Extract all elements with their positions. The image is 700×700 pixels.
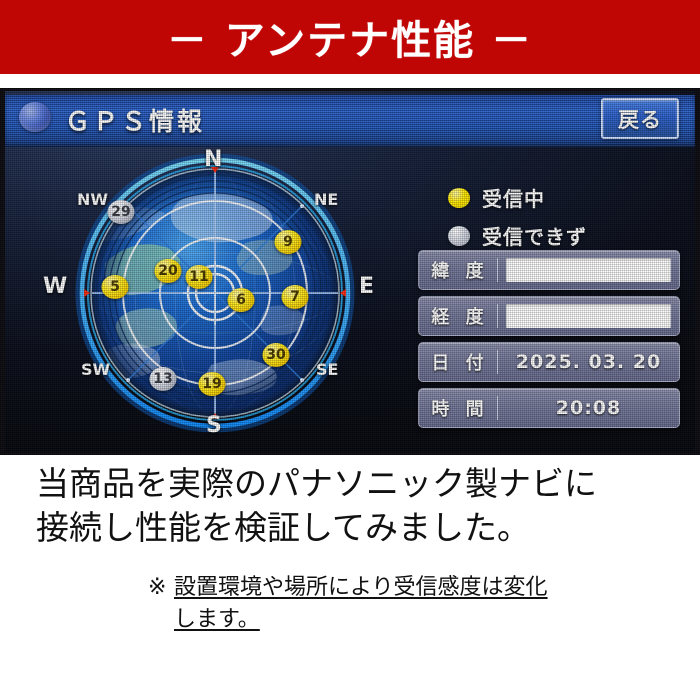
legend-label-not-receiving: 受信できず	[482, 221, 587, 250]
banner-title: － アンテナ性能 －	[167, 8, 533, 66]
compass-label-e: E	[359, 274, 374, 299]
compass-label-ne: NE	[314, 190, 338, 209]
note-line-2: します。	[148, 604, 700, 636]
info-row-date: 日 付 2025. 03. 20	[418, 342, 680, 382]
info-value-longitude	[506, 304, 671, 328]
compass-label-n: N	[204, 147, 222, 172]
note-text-2: します。	[174, 607, 260, 632]
radar-graphic	[35, 143, 395, 448]
info-row-longitude: 経 度	[418, 296, 680, 336]
row-divider	[497, 258, 498, 282]
compass-label-sw: SW	[81, 360, 110, 379]
caption-line-1: 当商品を実際のパナソニック製ナビに	[0, 462, 700, 506]
gray-dot-icon	[448, 226, 470, 246]
caption-line-2: 接続し性能を検証してみました。	[0, 506, 700, 550]
compass-label-se: SE	[316, 360, 338, 379]
row-divider	[497, 350, 498, 374]
row-divider	[497, 396, 498, 420]
compass-label-nw: NW	[77, 190, 108, 209]
yellow-dot-icon	[448, 188, 470, 208]
nav-screen: ＧＰＳ情報 戻る	[5, 91, 695, 452]
satellite-marker-9: 9	[275, 230, 302, 254]
info-value-date: 2025. 03. 20	[506, 350, 671, 374]
product-info-page: － アンテナ性能 － ＧＰＳ情報 戻る	[0, 0, 700, 700]
note-mark: ※	[148, 572, 174, 604]
back-button-label: 戻る	[618, 104, 662, 134]
satellite-marker-30: 30	[263, 343, 290, 367]
info-value-latitude	[506, 258, 671, 282]
satellite-marker-6: 6	[228, 288, 255, 312]
note-text-1: 設置環境や場所により受信感度は変化	[174, 575, 548, 600]
satellite-marker-13: 13	[150, 367, 177, 391]
info-row-time: 時 間 20:08	[418, 388, 680, 428]
compass-label-w: W	[43, 274, 67, 299]
satellite-marker-19: 19	[199, 372, 226, 396]
gps-screen-photo: ＧＰＳ情報 戻る	[0, 88, 700, 455]
satellite-sky-plot: N S E W NE NW SE SW 2992011567301319	[35, 143, 395, 448]
info-key-latitude: 緯 度	[419, 257, 497, 283]
gps-info-table: 緯 度 経 度 日 付 2025. 03. 20 時 間 2	[418, 250, 680, 434]
note-line-1: ※設置環境や場所により受信感度は変化	[148, 572, 700, 604]
legend-item-receiving: 受信中	[448, 183, 587, 212]
info-key-date: 日 付	[419, 349, 497, 375]
banner: － アンテナ性能 －	[0, 0, 700, 74]
info-key-longitude: 経 度	[419, 303, 497, 329]
satellite-marker-7: 7	[282, 285, 309, 309]
gps-info-title: ＧＰＳ情報	[65, 102, 205, 138]
satellite-marker-29: 29	[108, 200, 135, 224]
satellite-marker-5: 5	[102, 275, 129, 299]
info-row-latitude: 緯 度	[418, 250, 680, 290]
satellite-marker-20: 20	[155, 259, 182, 283]
back-button[interactable]: 戻る	[601, 98, 679, 139]
blue-orb-icon	[19, 102, 51, 132]
info-key-time: 時 間	[419, 395, 497, 421]
note-block: ※設置環境や場所により受信感度は変化 します。	[0, 572, 700, 636]
reception-legend: 受信中 受信できず	[448, 183, 587, 259]
legend-label-receiving: 受信中	[482, 183, 545, 212]
satellite-marker-11: 11	[186, 265, 213, 289]
info-value-time: 20:08	[506, 396, 671, 420]
compass-label-s: S	[206, 413, 222, 438]
row-divider	[497, 304, 498, 328]
legend-item-not-receiving: 受信できず	[448, 221, 587, 250]
caption-block: 当商品を実際のパナソニック製ナビに 接続し性能を検証してみました。	[0, 462, 700, 550]
